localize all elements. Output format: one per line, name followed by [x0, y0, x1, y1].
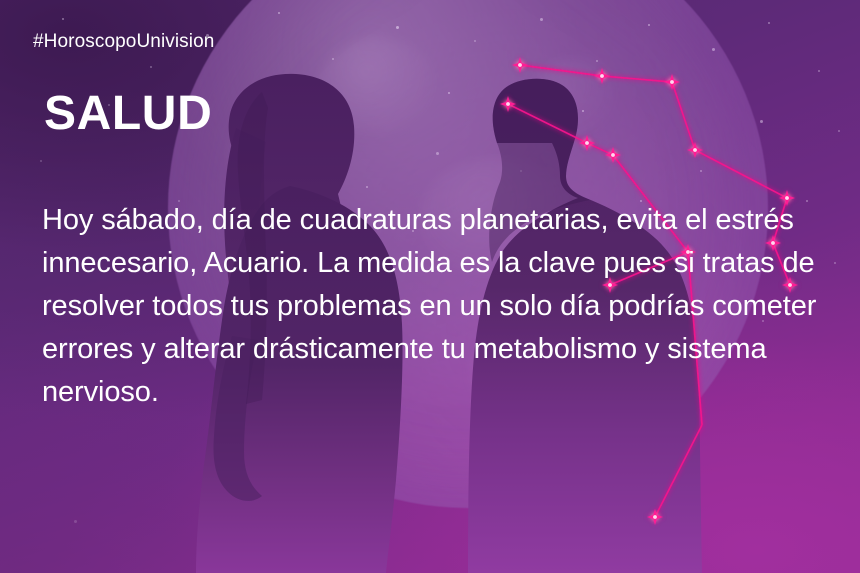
hashtag-label: #HoroscopoUnivision	[33, 32, 214, 51]
horoscope-body-text: Hoy sábado, día de cuadraturas planetari…	[42, 199, 832, 414]
page-title: SALUD	[44, 90, 212, 138]
horoscope-card: #HoroscopoUnivision SALUD Hoy sábado, dí…	[0, 0, 860, 573]
